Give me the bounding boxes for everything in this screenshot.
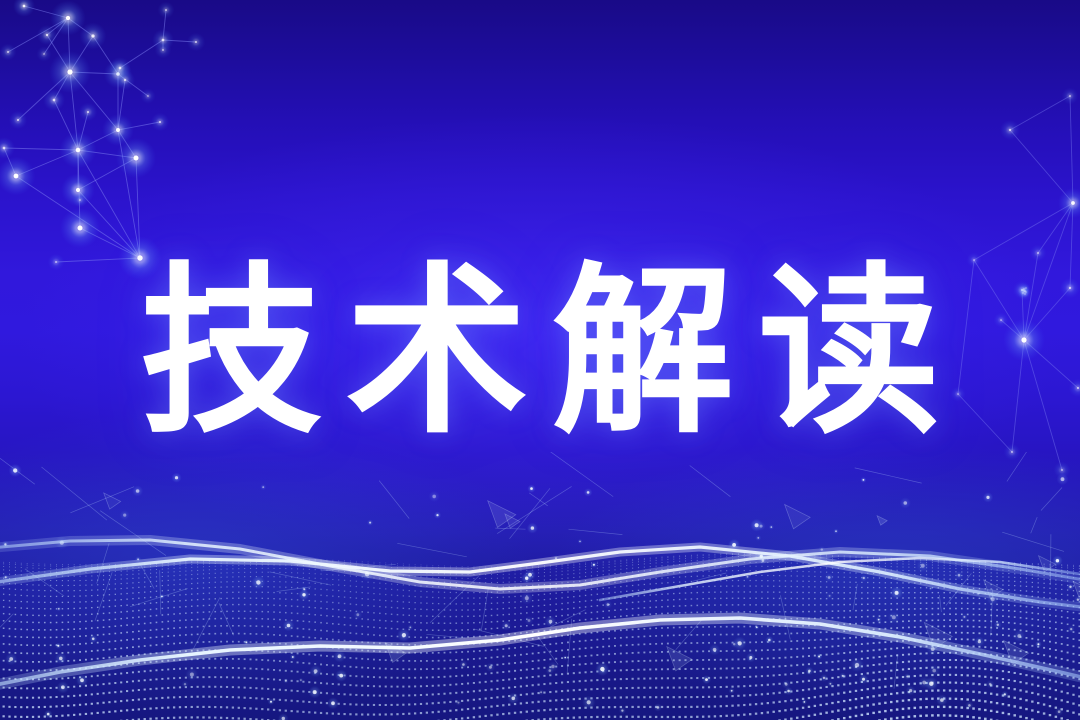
headline-text: 技术解读 <box>116 258 964 446</box>
banner-graphic: 技术解读 <box>0 0 1080 720</box>
headline-container: 技术解读 <box>0 258 1080 446</box>
